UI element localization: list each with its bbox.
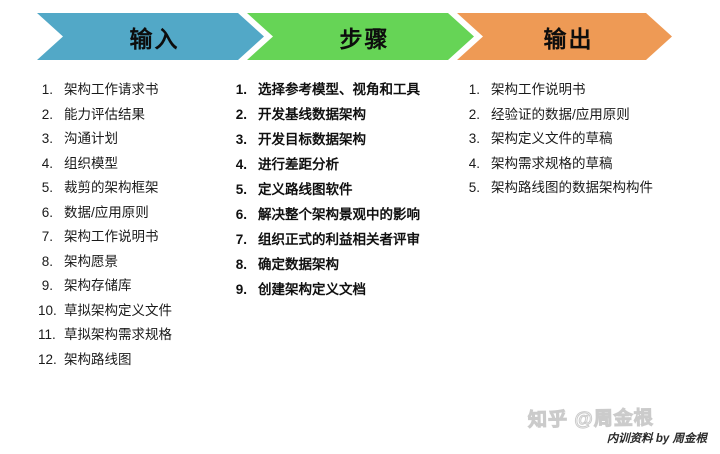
list-item: 1.架构工作请求书 <box>38 82 232 98</box>
list-item: 10.草拟架构定义文件 <box>38 303 232 319</box>
item-text: 架构路线图 <box>64 352 132 368</box>
list-item: 7.架构工作说明书 <box>38 229 232 245</box>
list-item: 2.开发基线数据架构 <box>232 107 456 123</box>
list-item: 9.架构存储库 <box>38 278 232 294</box>
item-text: 数据/应用原则 <box>64 205 149 221</box>
item-number: 3. <box>232 132 258 148</box>
stage-label-step: 步骤 <box>340 20 390 54</box>
item-number: 3. <box>38 131 64 147</box>
item-text: 经验证的数据/应用原则 <box>491 107 630 123</box>
item-text: 开发目标数据架构 <box>258 132 366 148</box>
item-text: 定义路线图软件 <box>258 182 353 198</box>
item-number: 5. <box>465 180 491 196</box>
item-number: 11. <box>38 327 64 343</box>
item-text: 架构工作请求书 <box>64 82 159 98</box>
list-item: 2.能力评估结果 <box>38 107 232 123</box>
item-text: 沟通计划 <box>64 131 118 147</box>
item-number: 4. <box>465 156 491 172</box>
list-item: 5.裁剪的架构框架 <box>38 180 232 196</box>
item-number: 1. <box>38 82 64 98</box>
item-number: 3. <box>465 131 491 147</box>
item-number: 10. <box>38 303 64 319</box>
item-text: 进行差距分析 <box>258 157 339 173</box>
list-item: 3.架构定义文件的草稿 <box>465 131 720 147</box>
column-output: 1.架构工作说明书 2.经验证的数据/应用原则 3.架构定义文件的草稿 4.架构… <box>456 82 720 376</box>
item-text: 草拟架构定义文件 <box>64 303 172 319</box>
item-number: 9. <box>232 282 258 298</box>
list-item: 4.进行差距分析 <box>232 157 456 173</box>
list-item: 9.创建架构定义文档 <box>232 282 456 298</box>
item-number: 2. <box>465 107 491 123</box>
item-text: 选择参考模型、视角和工具 <box>258 82 420 98</box>
list-item: 1.架构工作说明书 <box>465 82 720 98</box>
item-text: 草拟架构需求规格 <box>64 327 172 343</box>
item-number: 12. <box>38 352 64 368</box>
list-item: 3.开发目标数据架构 <box>232 132 456 148</box>
item-text: 组织正式的利益相关者评审 <box>258 232 420 248</box>
list-item: 6.数据/应用原则 <box>38 205 232 221</box>
stage-chevron-step[interactable]: 步骤 <box>247 13 474 60</box>
item-text: 架构需求规格的草稿 <box>491 156 613 172</box>
item-text: 组织模型 <box>64 156 118 172</box>
item-text: 架构存储库 <box>64 278 132 294</box>
item-text: 架构路线图的数据架构构件 <box>491 180 653 196</box>
list-item: 8.架构愿景 <box>38 254 232 270</box>
item-text: 确定数据架构 <box>258 257 339 273</box>
list-item: 1.选择参考模型、视角和工具 <box>232 82 456 98</box>
list-item: 12.架构路线图 <box>38 352 232 368</box>
column-step: 1.选择参考模型、视角和工具 2.开发基线数据架构 3.开发目标数据架构 4.进… <box>232 82 456 376</box>
item-text: 架构定义文件的草稿 <box>491 131 613 147</box>
item-number: 8. <box>38 254 64 270</box>
item-text: 架构工作说明书 <box>64 229 159 245</box>
stage-chevron-input[interactable]: 输入 <box>37 13 264 60</box>
list-item: 2.经验证的数据/应用原则 <box>465 107 720 123</box>
item-number: 7. <box>232 232 258 248</box>
item-text: 架构工作说明书 <box>491 82 586 98</box>
step-item-list: 1.选择参考模型、视角和工具 2.开发基线数据架构 3.开发目标数据架构 4.进… <box>232 82 456 298</box>
input-item-list: 1.架构工作请求书 2.能力评估结果 3.沟通计划 4.组织模型 5.裁剪的架构… <box>38 82 232 368</box>
output-item-list: 1.架构工作说明书 2.经验证的数据/应用原则 3.架构定义文件的草稿 4.架构… <box>465 82 720 196</box>
list-item: 6.解决整个架构景观中的影响 <box>232 207 456 223</box>
list-item: 4.组织模型 <box>38 156 232 172</box>
item-text: 解决整个架构景观中的影响 <box>258 207 420 223</box>
item-number: 4. <box>232 157 258 173</box>
footer-credit: 内训资料 by 周金根 <box>607 430 707 446</box>
stage-header-band: 输入 步骤 输出 <box>0 0 720 72</box>
item-number: 7. <box>38 229 64 245</box>
column-input: 1.架构工作请求书 2.能力评估结果 3.沟通计划 4.组织模型 5.裁剪的架构… <box>0 82 232 376</box>
watermark: 知乎 @周金根 <box>528 403 654 432</box>
item-number: 9. <box>38 278 64 294</box>
item-text: 创建架构定义文档 <box>258 282 366 298</box>
item-number: 1. <box>232 82 258 98</box>
item-number: 5. <box>232 182 258 198</box>
stage-label-input: 输入 <box>130 20 180 54</box>
stage-chevron-output[interactable]: 输出 <box>457 13 672 60</box>
stage-columns: 1.架构工作请求书 2.能力评估结果 3.沟通计划 4.组织模型 5.裁剪的架构… <box>0 82 720 376</box>
list-item: 4.架构需求规格的草稿 <box>465 156 720 172</box>
list-item: 5.架构路线图的数据架构构件 <box>465 180 720 196</box>
item-text: 能力评估结果 <box>64 107 145 123</box>
item-text: 裁剪的架构框架 <box>64 180 159 196</box>
item-number: 6. <box>38 205 64 221</box>
item-number: 2. <box>232 107 258 123</box>
list-item: 8.确定数据架构 <box>232 257 456 273</box>
list-item: 11.草拟架构需求规格 <box>38 327 232 343</box>
item-number: 6. <box>232 207 258 223</box>
item-number: 5. <box>38 180 64 196</box>
item-number: 4. <box>38 156 64 172</box>
stage-label-output: 输出 <box>544 20 594 54</box>
item-text: 架构愿景 <box>64 254 118 270</box>
item-text: 开发基线数据架构 <box>258 107 366 123</box>
item-number: 1. <box>465 82 491 98</box>
item-number: 2. <box>38 107 64 123</box>
list-item: 5.定义路线图软件 <box>232 182 456 198</box>
item-number: 8. <box>232 257 258 273</box>
list-item: 7.组织正式的利益相关者评审 <box>232 232 456 248</box>
list-item: 3.沟通计划 <box>38 131 232 147</box>
